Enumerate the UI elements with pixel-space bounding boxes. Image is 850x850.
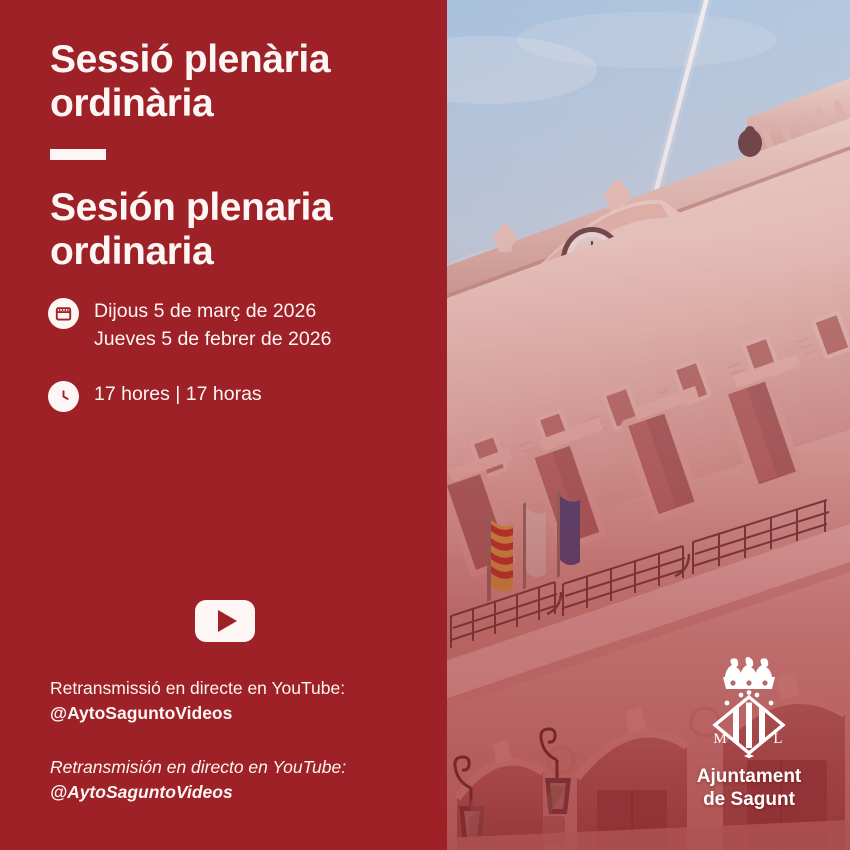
page-title-catalan: Sessió plenària ordinària	[50, 38, 420, 125]
event-date-row: Dijous 5 de març de 2026 Jueves 5 de feb…	[48, 296, 428, 353]
youtube-caption-catalan-prefix: Retransmissió en directe en YouTube:	[50, 678, 345, 698]
event-time-row: 17 hores | 17 horas	[48, 379, 428, 412]
title-block: Sessió plenària ordinària Sesión plenari…	[50, 38, 420, 274]
ajuntament-name: Ajuntament de Sagunt	[674, 766, 824, 812]
play-triangle	[218, 610, 237, 632]
event-details: Dijous 5 de març de 2026 Jueves 5 de feb…	[48, 296, 428, 438]
calendar-icon	[48, 298, 79, 329]
left-red-panel: Sessió plenària ordinària Sesión plenari…	[0, 0, 447, 850]
youtube-handle-spanish[interactable]: @AytoSaguntoVideos	[50, 782, 233, 802]
youtube-play-icon[interactable]	[195, 600, 255, 642]
clock-icon	[48, 381, 79, 412]
crest-letter-m: M	[713, 731, 726, 747]
youtube-caption-spanish: Retransmisión en directo en YouTube: @Ay…	[50, 755, 430, 806]
crest-letter-l: L	[773, 731, 782, 747]
youtube-caption-spanish-prefix: Retransmisión en directo en YouTube:	[50, 757, 346, 777]
event-date-text: Dijous 5 de març de 2026 Jueves 5 de feb…	[94, 296, 331, 353]
ajuntament-logo: M L Ajuntament de Sagunt	[674, 655, 824, 812]
youtube-caption-catalan: Retransmissió en directe en YouTube: @Ay…	[50, 676, 430, 727]
event-time-text: 17 hores | 17 horas	[94, 379, 262, 409]
page-title-spanish: Sesión plenaria ordinaria	[50, 186, 420, 273]
youtube-block: Retransmissió en directe en YouTube: @Ay…	[50, 600, 430, 806]
poster: Sessió plenària ordinària Sesión plenari…	[0, 0, 850, 850]
youtube-handle-catalan[interactable]: @AytoSaguntoVideos	[50, 703, 232, 723]
sagunt-coat-of-arms-icon: M L	[699, 655, 799, 759]
title-divider	[50, 149, 106, 160]
